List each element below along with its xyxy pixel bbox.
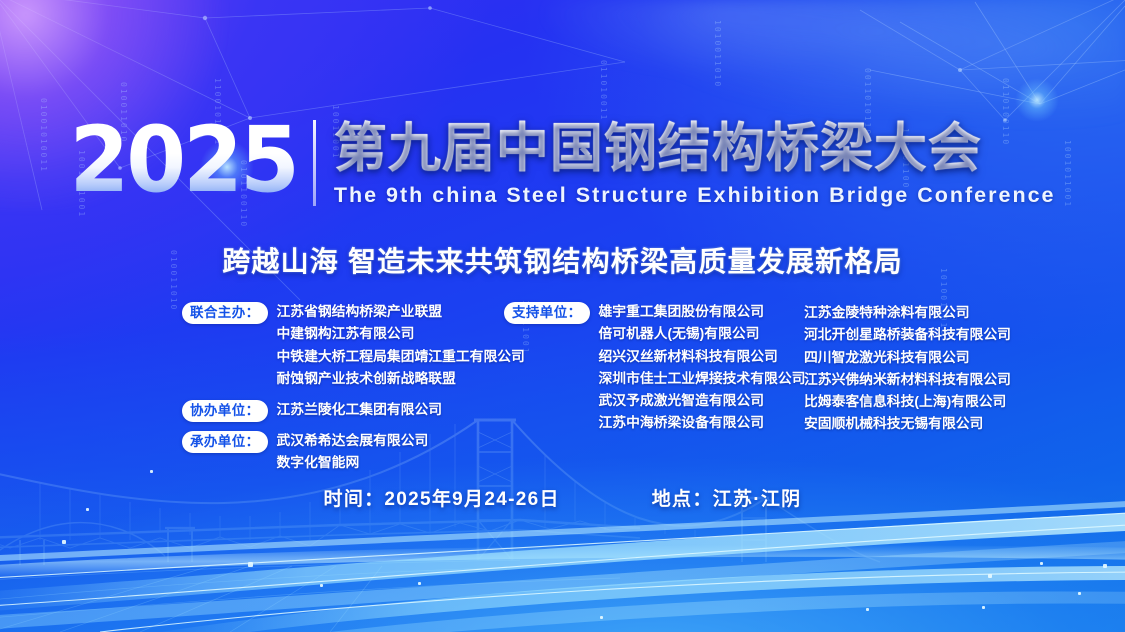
org-block-supporters: 支持单位： 雄宇重工集团股份有限公司 倍可机器人(无锡)有限公司 绍兴汉丝新材料… [504, 301, 804, 435]
list-item: 江苏兰陵化工集团有限公司 [277, 399, 443, 421]
title-english: The 9th china Steel Structure Exhibition… [334, 183, 1056, 207]
label-undertakers: 承办单位： [182, 431, 268, 453]
org-list-undertakers: 武汉希希达会展有限公司 数字化智能网 [277, 430, 429, 475]
year-2025: 2025 [69, 118, 312, 203]
list-item: 江苏兴佛纳米新材料科技有限公司 [804, 369, 1011, 391]
list-item: 武汉希希达会展有限公司 [277, 430, 429, 452]
org-list-co-hosts: 江苏省钢结构桥梁产业联盟 中建钢构江苏有限公司 中铁建大桥工程局集团靖江重工有限… [277, 301, 525, 391]
conference-banner: 01001010011 1001101001 010011010 1100101… [0, 0, 1125, 632]
list-item: 深圳市佳士工业焊接技术有限公司 [599, 368, 806, 390]
list-item: 四川智龙激光科技有限公司 [804, 347, 1011, 369]
list-item: 雄宇重工集团股份有限公司 [599, 301, 806, 323]
title-block: 第九届中国钢结构桥梁大会 The 9th china Steel Structu… [316, 118, 1056, 207]
list-item: 绍兴汉丝新材料科技有限公司 [599, 346, 806, 368]
list-item: 江苏中海桥梁设备有限公司 [599, 412, 806, 434]
list-item: 数字化智能网 [277, 452, 429, 474]
footer-info: 时间：2025年9月24-26日 地点：江苏·江阴 [0, 484, 1125, 511]
slogan-text: 跨越山海 智造未来共筑钢结构桥梁高质量发展新格局 [0, 240, 1125, 280]
org-list-co-organizers: 江苏兰陵化工集团有限公司 [277, 399, 443, 421]
org-block-co-hosts: 联合主办： 江苏省钢结构桥梁产业联盟 中建钢构江苏有限公司 中铁建大桥工程局集团… [182, 301, 504, 391]
org-list-supporters: 雄宇重工集团股份有限公司 倍可机器人(无锡)有限公司 绍兴汉丝新材料科技有限公司… [599, 301, 806, 435]
organizers-left-column: 联合主办： 江苏省钢结构桥梁产业联盟 中建钢构江苏有限公司 中铁建大桥工程局集团… [182, 301, 504, 482]
list-item: 武汉予成激光智造有限公司 [599, 390, 806, 412]
list-item: 江苏省钢结构桥梁产业联盟 [277, 301, 525, 323]
list-item: 倍可机器人(无锡)有限公司 [599, 323, 806, 345]
organizers-section: 联合主办： 江苏省钢结构桥梁产业联盟 中建钢构江苏有限公司 中铁建大桥工程局集团… [182, 301, 1011, 482]
list-item: 耐蚀钢产业技术创新战略联盟 [277, 368, 525, 390]
main-title-row: 2025 第九届中国钢结构桥梁大会 The 9th china Steel St… [0, 118, 1125, 207]
list-item: 江苏金陵特种涂料有限公司 [804, 302, 1011, 324]
label-supporters: 支持单位： [504, 302, 590, 324]
organizers-right-column: 江苏金陵特种涂料有限公司 河北开创星路桥装备科技有限公司 四川智龙激光科技有限公… [804, 301, 1011, 436]
event-date: 时间：2025年9月24-26日 [324, 484, 560, 511]
list-item: 中建钢构江苏有限公司 [277, 323, 525, 345]
banner-content: 2025 第九届中国钢结构桥梁大会 The 9th china Steel St… [0, 0, 1125, 632]
title-chinese: 第九届中国钢结构桥梁大会 [334, 118, 1056, 180]
org-block-undertakers: 承办单位： 武汉希希达会展有限公司 数字化智能网 [182, 430, 504, 475]
org-block-co-organizers: 协办单位： 江苏兰陵化工集团有限公司 [182, 399, 504, 422]
label-co-hosts: 联合主办： [182, 302, 268, 324]
list-item: 安固顺机械科技无锡有限公司 [804, 413, 1011, 435]
event-location: 地点：江苏·江阴 [652, 484, 802, 511]
label-co-organizers: 协办单位： [182, 400, 268, 422]
organizers-middle-column: 支持单位： 雄宇重工集团股份有限公司 倍可机器人(无锡)有限公司 绍兴汉丝新材料… [504, 301, 804, 443]
list-item: 河北开创星路桥装备科技有限公司 [804, 324, 1011, 346]
list-item: 中铁建大桥工程局集团靖江重工有限公司 [277, 346, 525, 368]
list-item: 比姆泰客信息科技(上海)有限公司 [804, 391, 1011, 413]
